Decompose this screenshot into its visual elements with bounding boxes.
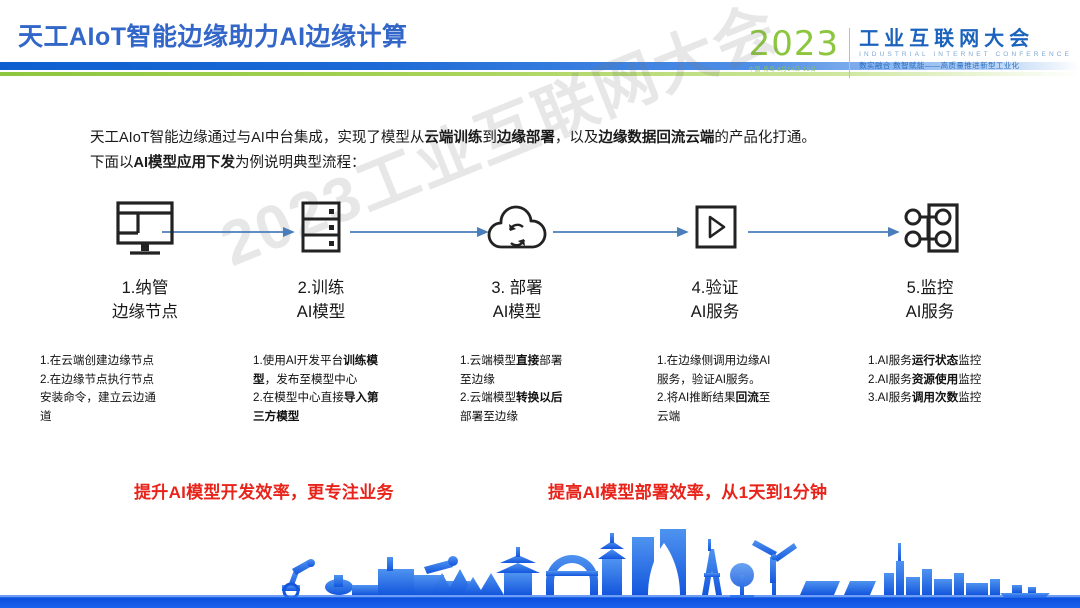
flow-step-2-line1: 2.训练 (246, 276, 396, 300)
detail-line: 1.在云端创建边缘节点 (40, 352, 250, 371)
detail-text: 监控 (958, 373, 981, 386)
detail-text: 1.在云端创建边缘节点 (40, 354, 154, 367)
detail-text: 1.使用AI开发平台 (253, 354, 343, 367)
callout-right: 提高AI模型部署效率，从1天到1分钟 (548, 478, 827, 503)
monitoring-icon (855, 196, 1005, 262)
cloud-sync-icon (442, 196, 592, 262)
server-icon (246, 196, 396, 262)
flow-step-5-label: 5.监控 AI服务 (855, 276, 1005, 324)
flow-step-4-label: 4.验证 AI服务 (640, 276, 790, 324)
detail-text: 2.云端模型 (460, 391, 516, 404)
detail-emphasis: 导入第 (344, 391, 379, 404)
detail-emphasis: 训练模 (343, 354, 378, 367)
logo-divider (849, 28, 850, 78)
detail-line: 1.AI服务运行状态监控 (868, 352, 1068, 371)
detail-emphasis: 转换以后 (516, 391, 562, 404)
detail-column-1: 1.在云端创建边缘节点2.在边缘节点执行节点安装命令，建立云边通道 (40, 352, 250, 426)
detail-emphasis: 回流 (736, 391, 759, 404)
detail-text: ，发布至模型中心 (265, 373, 358, 386)
monitor-icon (70, 196, 220, 262)
callout-left: 提升AI模型开发效率，更专注业务 (134, 478, 394, 503)
play-box-icon (640, 196, 790, 262)
flow-step-1-line2: 边缘节点 (70, 300, 220, 324)
flow-step-1[interactable]: 1.纳管 边缘节点 (70, 196, 220, 324)
detail-text: 部署 (539, 354, 562, 367)
conference-logo: 2023 中国·青岛 8月14日-15日 工业互联网大会 INDUSTRIAL … (749, 26, 1072, 84)
detail-text: 1.云端模型 (460, 354, 516, 367)
flow-step-1-line1: 1.纳管 (70, 276, 220, 300)
logo-conference-cn: 工业互联网大会 (859, 28, 1072, 50)
logo-year-block: 2023 中国·青岛 8月14日-15日 (749, 26, 850, 73)
detail-text: 2.在模型中心直接 (253, 391, 344, 404)
intro-seg-2: 到 (482, 130, 497, 146)
flow-step-3-line1: 3. 部署 (442, 276, 592, 300)
detail-line: 至边缘 (460, 371, 645, 390)
intro-seg-3: ，以及 (555, 130, 599, 146)
detail-line: 云端 (657, 408, 857, 427)
flow-step-1-label: 1.纳管 边缘节点 (70, 276, 220, 324)
detail-column-2: 1.使用AI开发平台训练模型，发布至模型中心2.在模型中心直接导入第三方模型 (253, 352, 453, 426)
flow-step-5-line1: 5.监控 (855, 276, 1005, 300)
page-title: 天工AIoT智能边缘助力AI边缘计算 (18, 17, 408, 53)
detail-emphasis: 三方模型 (253, 410, 299, 423)
flow-step-2[interactable]: 2.训练 AI模型 (246, 196, 396, 324)
detail-text: 服务，验证AI服务。 (657, 373, 761, 386)
detail-line: 三方模型 (253, 408, 453, 427)
detail-column-5: 1.AI服务运行状态监控2.AI服务资源使用监控3.AI服务调用次数监控 (868, 352, 1068, 408)
detail-line: 2.将AI推断结果回流至 (657, 389, 857, 408)
intro-line-1: 天工AIoT智能边缘通过与AI中台集成，实现了模型从云端训练到边缘部署，以及边缘… (90, 126, 1010, 151)
flow-step-3-label: 3. 部署 AI模型 (442, 276, 592, 324)
flow-step-3[interactable]: 3. 部署 AI模型 (442, 196, 592, 324)
detail-emphasis: 直接 (516, 354, 539, 367)
intro-bold-edge-backflow: 边缘数据回流云端 (598, 130, 714, 146)
detail-line: 2.在模型中心直接导入第 (253, 389, 453, 408)
detail-line: 3.AI服务调用次数监控 (868, 389, 1068, 408)
intro-seg-5: 下面以 (90, 155, 134, 171)
detail-line: 型，发布至模型中心 (253, 371, 453, 390)
detail-text: 3.AI服务 (868, 391, 912, 404)
detail-line: 道 (40, 408, 250, 427)
intro-seg-4: 的产品化打通。 (714, 130, 816, 146)
logo-text-block: 工业互联网大会 INDUSTRIAL INTERNET CONFERENCE 数… (859, 26, 1072, 71)
flow-step-2-line2: AI模型 (246, 300, 396, 324)
intro-line-2: 下面以AI模型应用下发为例说明典型流程： (90, 151, 1010, 176)
detail-text: 监控 (958, 391, 981, 404)
detail-text: 至 (759, 391, 771, 404)
intro-bold-edge-deploy: 边缘部署 (497, 130, 555, 146)
detail-text: 1.在边缘侧调用边缘AI (657, 354, 770, 367)
detail-line: 2.云端模型转换以后 (460, 389, 645, 408)
detail-text: 2.将AI推断结果 (657, 391, 736, 404)
logo-conference-en: INDUSTRIAL INTERNET CONFERENCE (859, 50, 1072, 60)
intro-bold-model-dispatch: AI模型应用下发 (134, 155, 236, 171)
detail-text: 至边缘 (460, 373, 495, 386)
intro-bold-cloud-training: 云端训练 (424, 130, 482, 146)
detail-emphasis: 运行状态 (912, 354, 958, 367)
detail-line: 1.使用AI开发平台训练模 (253, 352, 453, 371)
detail-line: 服务，验证AI服务。 (657, 371, 857, 390)
slide-canvas: 天工AIoT智能边缘助力AI边缘计算 2023 中国·青岛 8月14日-15日 … (0, 0, 1080, 608)
logo-tagline: 数实融合 数智赋能——高质量推进新型工业化 (859, 60, 1072, 71)
detail-columns: 1.在云端创建边缘节点2.在边缘节点执行节点安装命令，建立云边通道1.使用AI开… (0, 352, 1080, 452)
flow-step-5[interactable]: 5.监控 AI服务 (855, 196, 1005, 324)
detail-text: 监控 (958, 354, 981, 367)
flow-diagram: 1.纳管 边缘节点 2.训练 AI模型 (0, 196, 1080, 336)
flow-step-5-line2: AI服务 (855, 300, 1005, 324)
detail-emphasis: 型 (253, 373, 265, 386)
flow-step-4[interactable]: 4.验证 AI服务 (640, 196, 790, 324)
skyline-decoration (0, 513, 1080, 608)
logo-year-text: 2023 (749, 26, 840, 62)
detail-text: 部署至边缘 (460, 410, 518, 423)
detail-column-4: 1.在边缘侧调用边缘AI服务，验证AI服务。2.将AI推断结果回流至云端 (657, 352, 857, 426)
intro-paragraph: 天工AIoT智能边缘通过与AI中台集成，实现了模型从云端训练到边缘部署，以及边缘… (90, 126, 1010, 176)
flow-step-3-line2: AI模型 (442, 300, 592, 324)
detail-emphasis: 调用次数 (912, 391, 958, 404)
detail-text: 1.AI服务 (868, 354, 912, 367)
detail-line: 2.AI服务资源使用监控 (868, 371, 1068, 390)
detail-text: 云端 (657, 410, 680, 423)
detail-line: 1.云端模型直接部署 (460, 352, 645, 371)
detail-line: 1.在边缘侧调用边缘AI (657, 352, 857, 371)
flow-step-4-line1: 4.验证 (640, 276, 790, 300)
detail-column-3: 1.云端模型直接部署至边缘2.云端模型转换以后部署至边缘 (460, 352, 645, 426)
detail-line: 2.在边缘节点执行节点 (40, 371, 250, 390)
detail-text: 安装命令，建立云边通 (40, 391, 156, 404)
intro-seg-6: 为例说明典型流程： (235, 155, 366, 171)
flow-step-4-line2: AI服务 (640, 300, 790, 324)
detail-text: 道 (40, 410, 52, 423)
detail-line: 部署至边缘 (460, 408, 645, 427)
detail-emphasis: 资源使用 (912, 373, 958, 386)
slide-header: 天工AIoT智能边缘助力AI边缘计算 2023 中国·青岛 8月14日-15日 … (0, 0, 1080, 90)
intro-seg-1: 天工AIoT智能边缘通过与AI中台集成，实现了模型从 (90, 130, 424, 146)
flow-step-2-label: 2.训练 AI模型 (246, 276, 396, 324)
detail-text: 2.在边缘节点执行节点 (40, 373, 154, 386)
logo-place-date: 中国·青岛 8月14日-15日 (749, 65, 840, 73)
detail-text: 2.AI服务 (868, 373, 912, 386)
detail-line: 安装命令，建立云边通 (40, 389, 250, 408)
